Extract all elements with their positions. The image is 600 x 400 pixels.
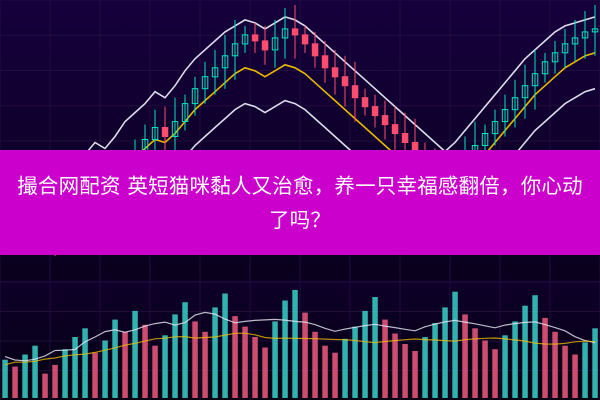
screenshot-root: 撮合网配资 英短猫咪黏人又治愈，养一只幸福感翻倍，你心动了吗？ <box>0 0 600 400</box>
headline-text: 撮合网配资 英短猫咪黏人又治愈，养一只幸福感翻倍，你心动了吗？ <box>8 169 592 237</box>
headline-banner: 撮合网配资 英短猫咪黏人又治愈，养一只幸福感翻倍，你心动了吗？ <box>0 150 600 255</box>
